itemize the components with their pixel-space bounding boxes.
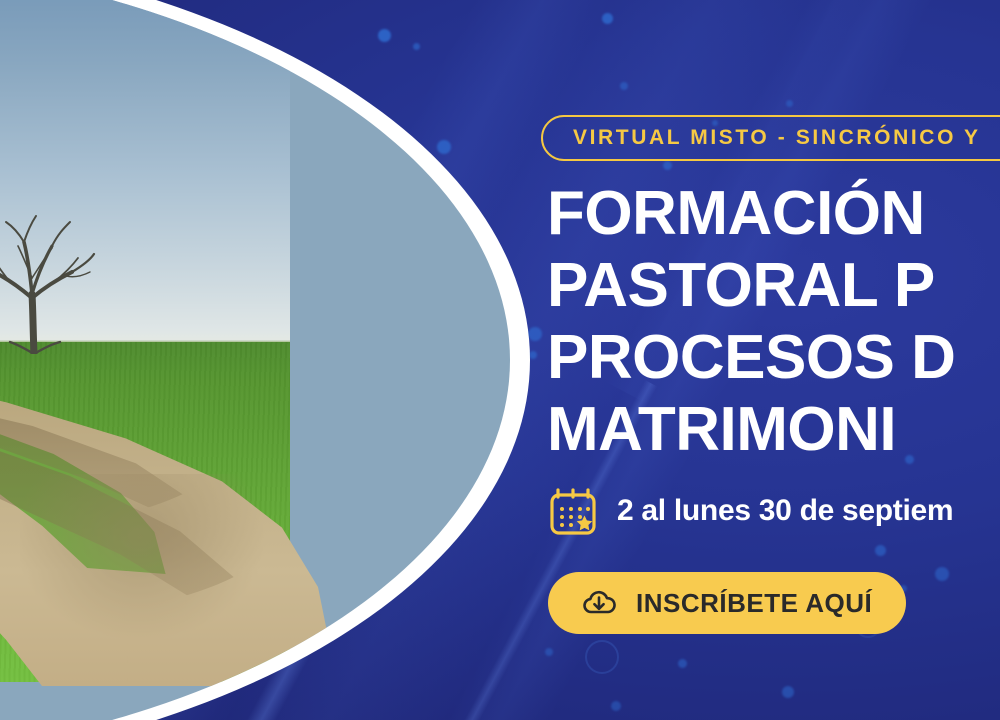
date-row: 2 al lunes 30 de septiem	[547, 485, 953, 537]
title-line-1: FORMACIÓN	[547, 178, 1000, 250]
promo-banner: VIRTUAL MISTO - SINCRÓNICO Y FORMACIÓN P…	[0, 0, 1000, 720]
hero-photo	[0, 0, 520, 720]
title-line-4: MATRIMONI	[547, 394, 1000, 466]
cloud-download-icon	[582, 586, 616, 620]
bokeh-dot	[528, 327, 542, 341]
bare-tree-center-icon	[0, 212, 100, 354]
title-line-3: PROCESOS D	[547, 322, 1000, 394]
date-text: 2 al lunes 30 de septiem	[617, 494, 953, 528]
photo-content	[0, 0, 510, 674]
title-line-2: PASTORAL P	[547, 250, 1000, 322]
photo-clip	[0, 0, 510, 720]
bokeh-dot	[529, 351, 537, 359]
calendar-star-icon	[547, 485, 599, 537]
path-shading	[20, 474, 320, 684]
register-button-label: INSCRÍBETE AQUÍ	[636, 588, 872, 619]
modality-badge: VIRTUAL MISTO - SINCRÓNICO Y	[541, 115, 1000, 161]
page-title: FORMACIÓN PASTORAL P PROCESOS D MATRIMON…	[547, 178, 1000, 466]
banner-content: VIRTUAL MISTO - SINCRÓNICO Y FORMACIÓN P…	[541, 0, 1000, 720]
register-button[interactable]: INSCRÍBETE AQUÍ	[548, 572, 906, 634]
modality-badge-label: VIRTUAL MISTO - SINCRÓNICO Y	[573, 126, 981, 150]
